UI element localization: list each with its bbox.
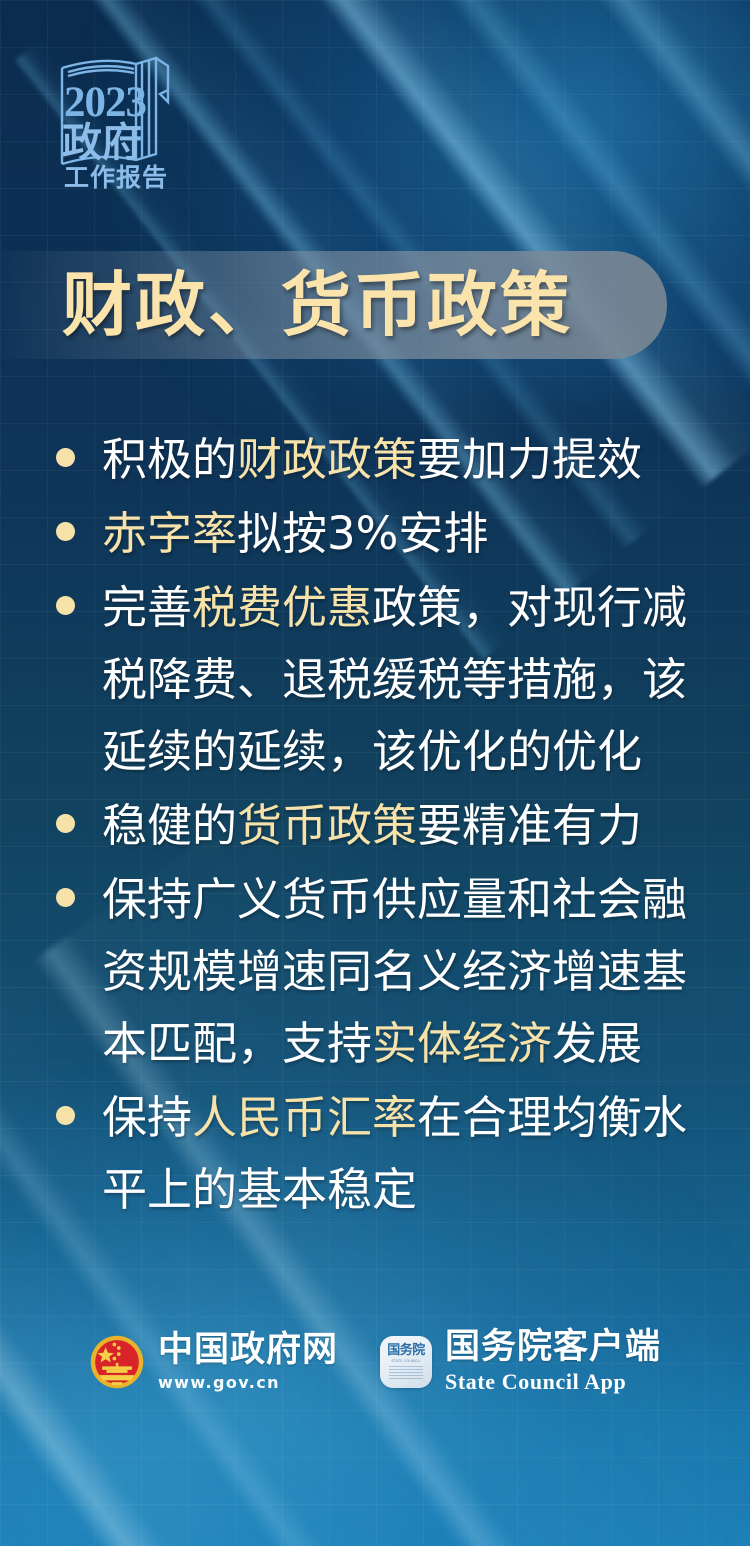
gov-cn-brand[interactable]: 中国政府网 www.gov.cn: [89, 1333, 338, 1391]
bullet-highlight-segment: 人民币汇率: [192, 1091, 417, 1144]
gov-cn-name: 中国政府网: [158, 1333, 338, 1368]
bullet-item: 完善税费优惠政策，对现行减税降费、退税缓税等措施，该延续的延续，该优化的优化: [44, 572, 724, 788]
policy-bullet-list: 积极的财政政策要加力提效赤字率拟按3%安排完善税费优惠政策，对现行减税降费、退税…: [44, 424, 724, 1228]
gov-cn-url: www.gov.cn: [158, 1375, 338, 1391]
bullet-text: 赤字率拟按3%安排: [102, 498, 724, 570]
bullet-plain-segment: 发展: [552, 1017, 642, 1070]
bullet-dot-icon: [56, 522, 75, 541]
bullet-plain-segment: 完善: [102, 581, 192, 634]
app-icon-cn-label: 国务院: [387, 1344, 425, 1357]
bullet-plain-segment: 要精准有力: [417, 799, 642, 852]
logo-line1: 政府: [62, 120, 142, 166]
bullet-plain-segment: 稳健的: [102, 799, 237, 852]
bullet-dot-icon: [56, 448, 75, 467]
bullet-highlight-segment: 货币政策: [237, 799, 417, 852]
bullet-dot-icon: [56, 1106, 75, 1125]
poster-root: 2023 政府 工作报告 财政、货币政策 积极的财政政策要加力提效赤字率拟按3%…: [0, 0, 750, 1546]
page-title: 财政、货币政策: [62, 270, 573, 340]
bullet-item: 保持人民币汇率在合理均衡水平上的基本稳定: [44, 1082, 724, 1226]
bullet-text: 完善税费优惠政策，对现行减税降费、退税缓税等措施，该延续的延续，该优化的优化: [102, 572, 724, 788]
bullet-item: 稳健的货币政策要精准有力: [44, 790, 724, 862]
bullet-dot-icon: [56, 814, 75, 833]
bullet-highlight-segment: 赤字率: [102, 507, 237, 560]
bullet-text: 保持人民币汇率在合理均衡水平上的基本稳定: [102, 1082, 724, 1226]
state-council-app-brand[interactable]: 国务院 STATE COUNCIL 国务院客户端 State Council A…: [380, 1330, 661, 1393]
bullet-highlight-segment: 实体经济: [372, 1017, 552, 1070]
bullet-text: 积极的财政政策要加力提效: [102, 424, 724, 496]
app-icon-en-label: STATE COUNCIL: [391, 1359, 420, 1363]
national-emblem-icon: [89, 1334, 145, 1390]
title-banner: 财政、货币政策: [0, 251, 667, 359]
logo-year: 2023: [64, 79, 147, 126]
bullet-highlight-segment: 税费优惠: [192, 581, 372, 634]
report-logo: 2023 政府 工作报告: [44, 42, 194, 192]
state-council-cn-name: 国务院客户端: [445, 1330, 661, 1365]
state-council-app-icon: 国务院 STATE COUNCIL: [380, 1336, 432, 1388]
bullet-plain-segment: 保持: [102, 1091, 192, 1144]
state-council-en-name: State Council App: [445, 1371, 661, 1393]
bullet-item: 赤字率拟按3%安排: [44, 498, 724, 570]
state-council-texts: 国务院客户端 State Council App: [445, 1330, 661, 1393]
bullet-dot-icon: [56, 888, 75, 907]
gov-cn-texts: 中国政府网 www.gov.cn: [158, 1333, 338, 1391]
bullet-highlight-segment: 财政政策: [237, 433, 417, 486]
bullet-item: 保持广义货币供应量和社会融资规模增速同名义经济增速基本匹配，支持实体经济发展: [44, 864, 724, 1080]
footer: 中国政府网 www.gov.cn 国务院 STATE COUNCIL 国务院客户…: [0, 1330, 750, 1393]
bullet-text: 保持广义货币供应量和社会融资规模增速同名义经济增速基本匹配，支持实体经济发展: [102, 864, 724, 1080]
logo-line2: 工作报告: [64, 163, 168, 192]
bullet-plain-segment: 拟按3%安排: [237, 507, 488, 560]
bullet-plain-segment: 积极的: [102, 433, 237, 486]
bullet-plain-segment: 要加力提效: [417, 433, 642, 486]
bullet-text: 稳健的货币政策要精准有力: [102, 790, 724, 862]
app-icon-building-lines: [389, 1366, 423, 1380]
book-icon: 2023 政府 工作报告: [44, 42, 194, 192]
bullet-item: 积极的财政政策要加力提效: [44, 424, 724, 496]
bullet-dot-icon: [56, 596, 75, 615]
